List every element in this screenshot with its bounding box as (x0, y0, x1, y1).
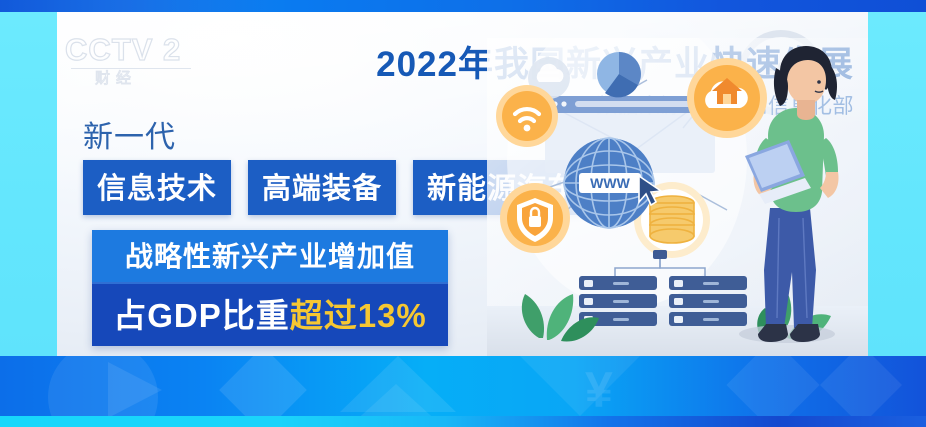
cctv-channel-watermark: CCTV 2 财经 (65, 34, 225, 96)
bottom-accent-band: ¥ (0, 356, 926, 427)
left-cyan-rail (0, 12, 57, 356)
statistic-highlight-value: 超过13% (290, 297, 427, 334)
bottom-edge-strip (0, 416, 926, 427)
statistic-top-text: 战略性新兴产业增加值 (125, 241, 415, 272)
statistic-callout: 战略性新兴产业增加值 占GDP比重超过13% (92, 230, 448, 346)
industry-chip-information-technology: 信息技术 (83, 160, 231, 215)
decorative-yen-symbol: ¥ (585, 361, 619, 419)
cctv-logo-rule (71, 68, 191, 69)
decorative-triangle-shape-4 (520, 356, 640, 416)
svg-text:WWW: WWW (590, 175, 630, 191)
decorative-triangle-shape-1 (108, 362, 162, 418)
cctv-channel-sub: 财经 (65, 67, 225, 88)
industry-chip-high-end-equipment: 高端装备 (248, 160, 396, 215)
digital-network-illustration: WWW (487, 38, 868, 356)
statistic-prefix: 占GDP比重 (113, 297, 290, 334)
content-panel: CCTV 2 财经 cctv.com 2022年我国新兴产业快速发展 数据来源：… (57, 12, 868, 356)
kicker-label: 新一代 (83, 112, 176, 156)
broadcast-graphic: CCTV 2 财经 cctv.com 2022年我国新兴产业快速发展 数据来源：… (0, 0, 926, 427)
top-accent-bar (0, 0, 926, 12)
statistic-bottom-row: 占GDP比重超过13% (92, 282, 448, 346)
cctv-channel-number: 2 (163, 32, 181, 67)
cctv-logo-text: CCTV (65, 32, 153, 67)
right-cyan-rail (868, 12, 926, 356)
statistic-top-label: 战略性新兴产业增加值 (92, 230, 448, 282)
